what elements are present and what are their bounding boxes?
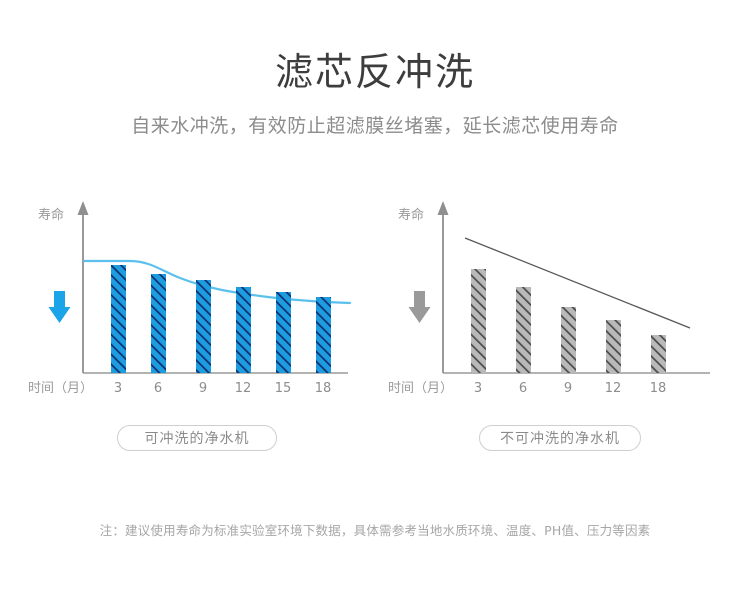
y-axis-label-right: 寿命: [398, 208, 424, 224]
tick-label-left-2: 9: [188, 381, 218, 397]
bar-month-12: [236, 287, 251, 373]
tick-label-left-0: 3: [103, 381, 133, 397]
tick-label-left-3: 12: [228, 381, 258, 397]
bar-month-9: [196, 280, 211, 373]
chart-washable: 寿命 时间（月） 3 6 9 12 15 18: [10, 195, 370, 410]
bar-month-18: [316, 297, 331, 373]
bar-group-washable: [111, 265, 331, 373]
bar-month-12: [606, 320, 621, 373]
tick-label-right-1: 6: [508, 381, 538, 397]
arrow-down-icon: [409, 291, 431, 323]
page-root: 滤芯反冲洗 自来水冲洗，有效防止超滤膜丝堵塞，延长滤芯使用寿命: [0, 0, 750, 603]
tick-label-right-2: 9: [553, 381, 583, 397]
bar-month-9: [561, 307, 576, 373]
triangle-up-icon: [438, 201, 449, 215]
tick-label-left-4: 15: [268, 381, 298, 397]
trend-line-non-washable: [465, 238, 690, 328]
footnote-text: 注：建议使用寿命为标准实验室环境下数据，具体需参考当地水质环境、温度、PH值、压…: [0, 522, 750, 540]
bar-month-18: [651, 335, 666, 373]
arrow-down-icon: [49, 291, 71, 323]
tick-label-left-1: 6: [143, 381, 173, 397]
tick-label-right-0: 3: [463, 381, 493, 397]
x-axis-label-left: 时间（月）: [28, 381, 93, 397]
x-axis-label-right: 时间（月）: [388, 381, 453, 397]
chart-washable-graphic: [10, 195, 370, 410]
tick-label-left-5: 18: [308, 381, 338, 397]
tick-label-right-4: 18: [643, 381, 673, 397]
bar-month-15: [276, 292, 291, 373]
bar-month-3: [471, 269, 486, 373]
triangle-up-icon: [78, 201, 89, 215]
bar-month-6: [151, 274, 166, 373]
bar-month-6: [516, 287, 531, 373]
caption-washable: 可冲洗的净水机: [117, 425, 277, 451]
bar-month-3: [111, 265, 126, 373]
bar-group-non-washable: [471, 269, 666, 373]
page-title: 滤芯反冲洗: [0, 48, 750, 96]
caption-non-washable: 不可冲洗的净水机: [479, 425, 641, 451]
chart-non-washable-graphic: [380, 195, 740, 410]
y-axis-label-left: 寿命: [38, 208, 64, 224]
chart-non-washable: 寿命 时间（月） 3 6 9 12 18: [380, 195, 740, 410]
tick-label-right-3: 12: [598, 381, 628, 397]
page-subtitle: 自来水冲洗，有效防止超滤膜丝堵塞，延长滤芯使用寿命: [0, 112, 750, 140]
